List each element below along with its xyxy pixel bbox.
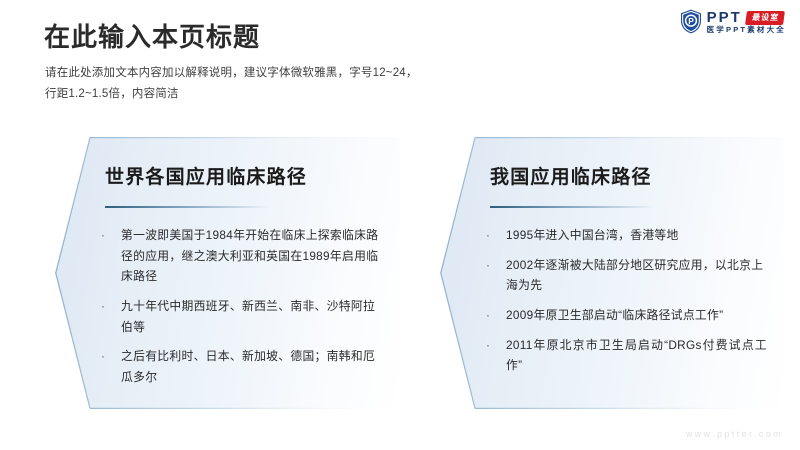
bullet-icon: ·: [486, 335, 490, 356]
list-item: · 2009年原卫生部启动“临床路径试点工作”: [482, 305, 767, 326]
bullet-icon: ·: [101, 225, 105, 246]
panel-group: 世界各国应用临床路径 · 第一波即美国于1984年开始在临床上探索临床路径的应用…: [0, 137, 800, 412]
brand-name: PPT: [707, 10, 742, 25]
page-subtitle-line2: 行距1.2~1.5倍，内容简洁: [45, 84, 565, 105]
bullet-icon: ·: [101, 346, 105, 367]
slide-root: P PPT 最设室 医学PPT素材大全 在此输入本页标题 请在此处添加文本内容加…: [0, 0, 800, 450]
svg-text:P: P: [688, 16, 694, 26]
panel-world-content: 世界各国应用临床路径 · 第一波即美国于1984年开始在临床上探索临床路径的应用…: [55, 137, 400, 409]
panel-world-list: · 第一波即美国于1984年开始在临床上探索临床路径的应用，继之澳大利亚和英国在…: [97, 225, 382, 396]
list-item-text: 2002年逐渐被大陆部分地区研究应用，以北京上海为先: [506, 255, 767, 296]
watermark: www.pptter.com: [686, 429, 783, 439]
list-item-text: 2011年原北京市卫生局启动“DRGs付费试点工作”: [506, 335, 767, 376]
bullet-icon: ·: [486, 255, 490, 276]
page-subtitle: 请在此处添加文本内容加以解释说明，建议字体微软雅黑，字号12~24， 行距1.2…: [45, 63, 565, 106]
list-item-text: 1995年进入中国台湾，香港等地: [506, 225, 767, 246]
shield-icon: P: [680, 9, 702, 34]
bullet-icon: ·: [486, 225, 490, 246]
page-title: 在此输入本页标题: [44, 22, 260, 53]
panel-china-list: · 1995年进入中国台湾，香港等地 · 2002年逐渐被大陆部分地区研究应用，…: [482, 225, 767, 385]
list-item: · 九十年代中期西班牙、新西兰、南非、沙特阿拉伯等: [97, 296, 382, 337]
list-item: · 第一波即美国于1984年开始在临床上探索临床路径的应用，继之澳大利亚和英国在…: [97, 225, 382, 287]
brand-tagline: 医学PPT素材大全: [707, 26, 786, 34]
list-item-text: 九十年代中期西班牙、新西兰、南非、沙特阿拉伯等: [121, 296, 382, 337]
panel-world-divider: [105, 206, 270, 208]
panel-china-divider: [490, 206, 655, 208]
list-item-text: 第一波即美国于1984年开始在临床上探索临床路径的应用，继之澳大利亚和英国在19…: [121, 225, 382, 287]
list-item-text: 之后有比利时、日本、新加坡、德国；南韩和厄瓜多尔: [121, 346, 382, 387]
list-item: · 2002年逐渐被大陆部分地区研究应用，以北京上海为先: [482, 255, 767, 296]
bullet-icon: ·: [486, 305, 490, 326]
panel-china-content: 我国应用临床路径 · 1995年进入中国台湾，香港等地 · 2002年逐渐被大陆…: [440, 137, 785, 409]
list-item-text: 2009年原卫生部启动“临床路径试点工作”: [506, 305, 767, 326]
brand-text: PPT 最设室 医学PPT素材大全: [707, 9, 786, 34]
panel-china-title: 我国应用临床路径: [490, 167, 652, 190]
brand-badge: 最设室: [745, 11, 785, 25]
brand-logo: P PPT 最设室 医学PPT素材大全: [680, 9, 786, 34]
panel-world-title: 世界各国应用临床路径: [105, 167, 307, 190]
page-subtitle-line1: 请在此处添加文本内容加以解释说明，建议字体微软雅黑，字号12~24，: [45, 63, 565, 84]
list-item: · 1995年进入中国台湾，香港等地: [482, 225, 767, 246]
list-item: · 2011年原北京市卫生局启动“DRGs付费试点工作”: [482, 335, 767, 376]
bullet-icon: ·: [101, 296, 105, 317]
list-item: · 之后有比利时、日本、新加坡、德国；南韩和厄瓜多尔: [97, 346, 382, 387]
